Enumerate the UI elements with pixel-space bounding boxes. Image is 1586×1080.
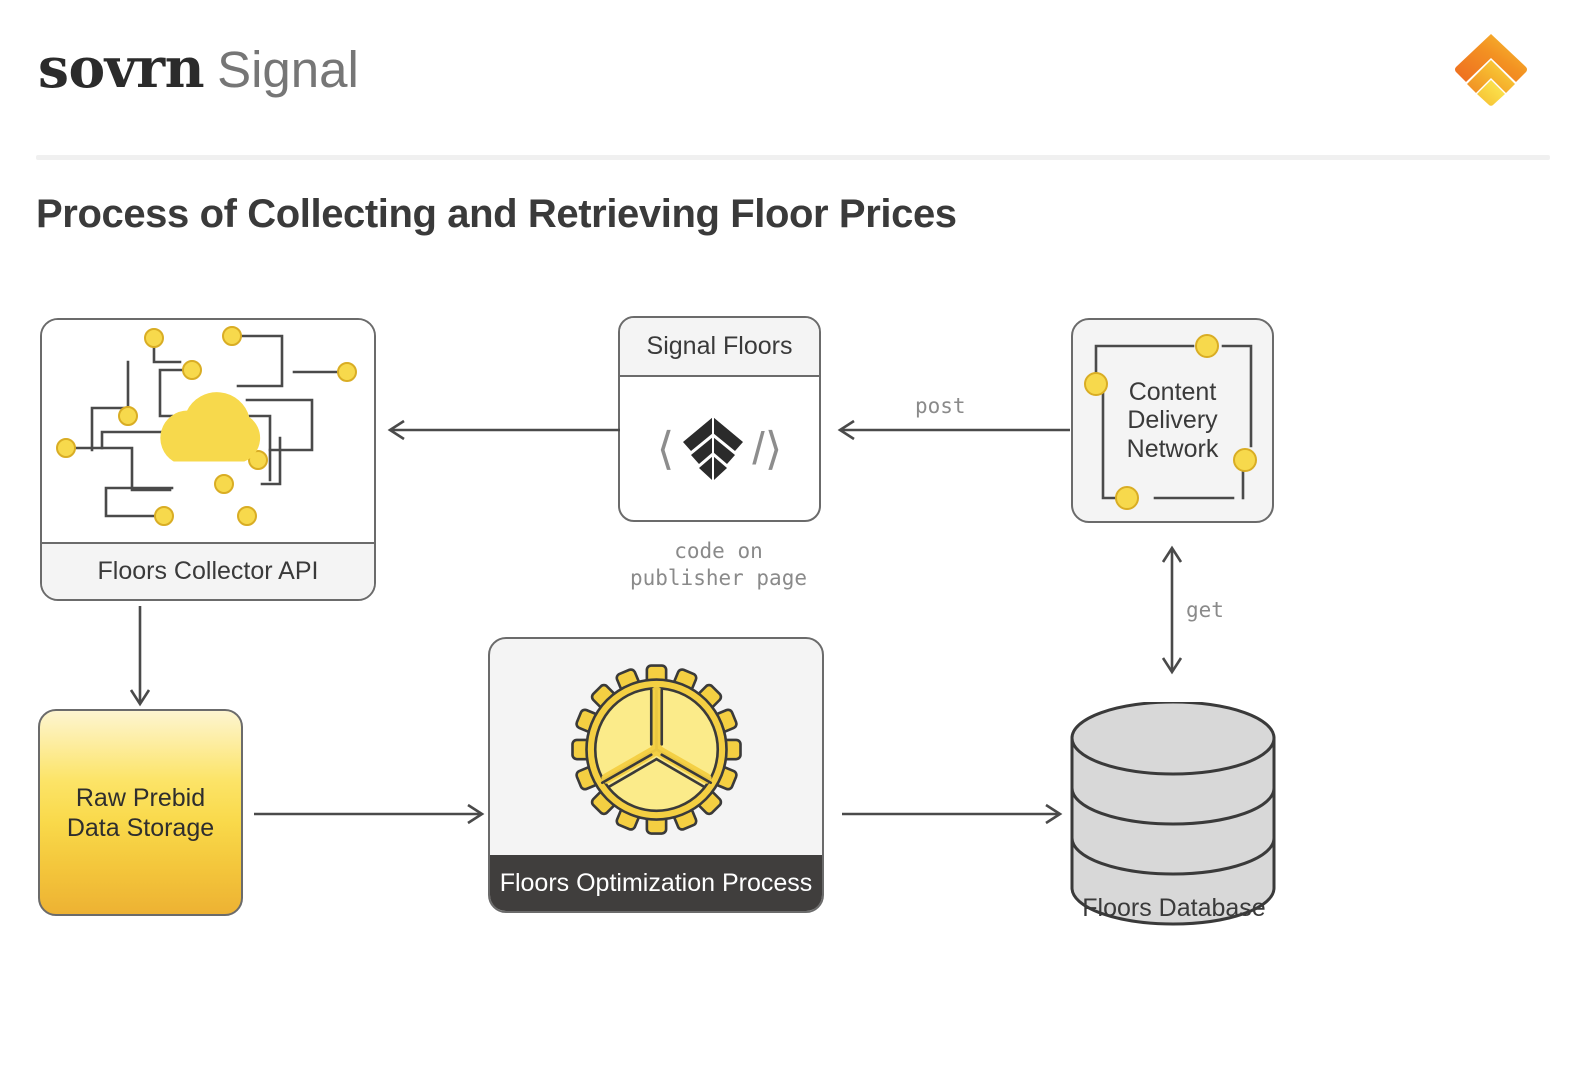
connector-label-get: get [1186, 598, 1224, 622]
signal-floors-header-bar: Signal Floors [620, 318, 819, 377]
content-delivery-network-label: Content Delivery Network [1073, 320, 1272, 521]
process-flow-diagram: Floors Collector API Signal Floors ⟨ /⟩ … [0, 0, 1586, 1080]
node-floors-optimization-process[interactable]: Floors Optimization Process [488, 637, 824, 913]
floors-collector-api-label-bar: Floors Collector API [42, 542, 374, 599]
floors-database-label: Floors Database [1040, 894, 1308, 923]
connector-raw-storage-to-optimization [250, 794, 490, 834]
connector-optimization-to-database [838, 794, 1068, 834]
signal-floors-label: Signal Floors [647, 332, 793, 361]
connector-signal-floors-to-collector [382, 410, 622, 450]
code-open-bracket-icon: ⟨ [657, 426, 675, 471]
floors-optimization-process-label: Floors Optimization Process [500, 869, 813, 898]
code-close-bracket-icon: /⟩ [752, 426, 782, 471]
cdn-label-line2: Delivery [1127, 406, 1217, 435]
sovrn-mark-icon [677, 413, 749, 485]
gear-icon [490, 639, 822, 859]
node-floors-collector-api[interactable]: Floors Collector API [40, 318, 376, 601]
cdn-label-line3: Network [1127, 435, 1219, 464]
signal-floors-caption: code on publisher page [596, 538, 841, 593]
connector-collector-to-raw-storage [120, 604, 160, 712]
node-signal-floors[interactable]: Signal Floors ⟨ /⟩ [618, 316, 821, 522]
signal-floors-caption-line2: publisher page [596, 565, 841, 592]
node-content-delivery-network[interactable]: Content Delivery Network [1071, 318, 1274, 523]
signal-floors-code-icon: ⟨ /⟩ [620, 375, 819, 522]
connector-label-post: post [915, 394, 966, 418]
signal-floors-caption-line1: code on [596, 538, 841, 565]
raw-prebid-label-line2: Data Storage [67, 813, 214, 843]
floors-collector-api-label: Floors Collector API [98, 557, 319, 586]
node-raw-prebid-data-storage[interactable]: Raw Prebid Data Storage [38, 709, 243, 916]
cloud-circuit-icon [42, 320, 374, 546]
floors-optimization-label-bar: Floors Optimization Process [490, 855, 822, 911]
cdn-label-line1: Content [1129, 378, 1217, 407]
raw-prebid-label-line1: Raw Prebid [76, 783, 205, 813]
